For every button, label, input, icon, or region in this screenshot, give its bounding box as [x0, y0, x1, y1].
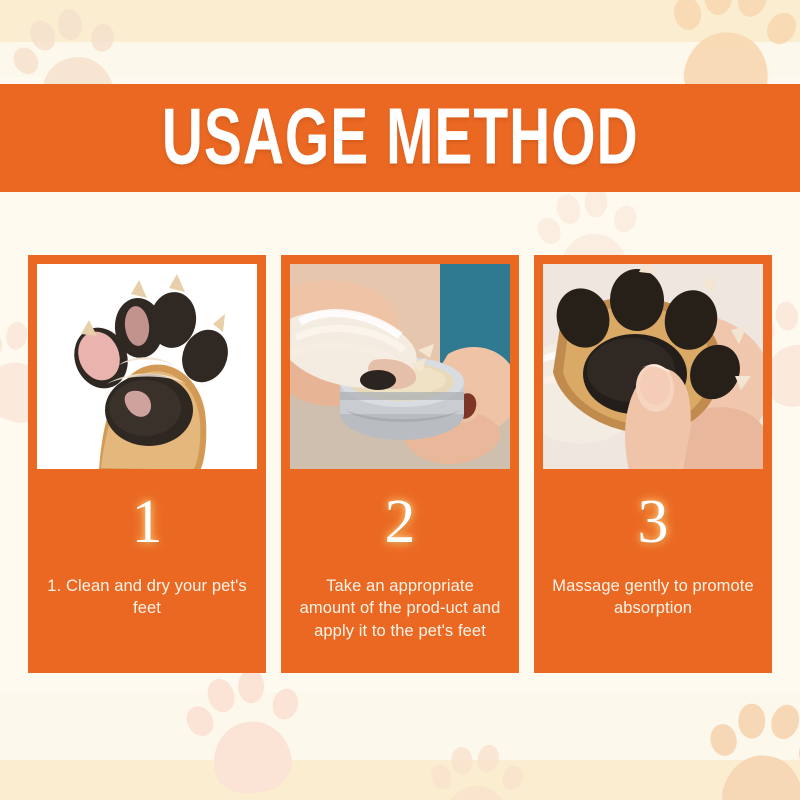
applying-balm-tin-photo [290, 264, 510, 469]
paw-toe-pad-4 [611, 203, 639, 235]
massaging-paw-photo [543, 264, 763, 469]
step-card-3: 3 Massage gently to promote absorption [534, 255, 772, 673]
paw-main-pad [209, 717, 296, 798]
paw-toe-pad-4 [89, 22, 115, 53]
paw-toe-pad-2 [203, 675, 238, 716]
paw-main-pad [717, 749, 800, 800]
paw-toe-pad-1 [0, 333, 3, 359]
step-card-1: 1 1. Clean and dry your pet's feet [28, 255, 266, 673]
paw-toe-pad-4 [270, 686, 301, 722]
page-title: USAGE METHOD [162, 98, 639, 177]
paw-toe-pad-3 [774, 300, 800, 332]
paw-toe-pad-4 [761, 7, 800, 50]
background-band-lower [0, 692, 800, 760]
paw-toe-pad-2 [450, 746, 474, 776]
paw-toe-pad-2 [553, 192, 583, 227]
step-caption: 1. Clean and dry your pet's feet [44, 575, 250, 620]
header-banner: USAGE METHOD [0, 84, 800, 192]
step-number: 1 [132, 491, 163, 553]
step-caption: Massage gently to promote absorption [550, 575, 756, 620]
step-number: 2 [385, 491, 416, 553]
paw-toe-pad-3 [239, 670, 265, 704]
step-number: 3 [638, 491, 669, 553]
usage-method-poster: USAGE METHOD [0, 0, 800, 800]
paw-toe-pad-3 [56, 8, 83, 42]
paw-toe-pad-4 [498, 762, 527, 793]
paw-toe-pad-1 [671, 0, 703, 33]
step-card-2: 2 Take an appropriate amount of the prod… [281, 255, 519, 673]
steps-row: 1 1. Clean and dry your pet's feet [28, 255, 772, 673]
paw-toe-pad-3 [475, 743, 501, 775]
paw-toe-pad-1 [708, 721, 740, 757]
paw-toe-pad-3 [767, 702, 800, 744]
paw-bottom-left-icon [181, 660, 317, 800]
paw-main-pad [443, 784, 510, 800]
paw-bottom-center-icon [426, 739, 529, 800]
paw-toe-pad-2 [703, 0, 732, 15]
paw-toe-pad-3 [733, 0, 772, 21]
paw-toe-pad-2 [4, 320, 30, 351]
paw-toe-pad-1 [428, 762, 455, 792]
paw-toe-pad-2 [739, 704, 766, 739]
dog-paw-underside-photo [37, 264, 257, 469]
paw-toe-pad-4 [794, 730, 800, 770]
background-band-bottom [0, 760, 800, 800]
step-caption: Take an appropriate amount of the prod-u… [297, 575, 503, 642]
